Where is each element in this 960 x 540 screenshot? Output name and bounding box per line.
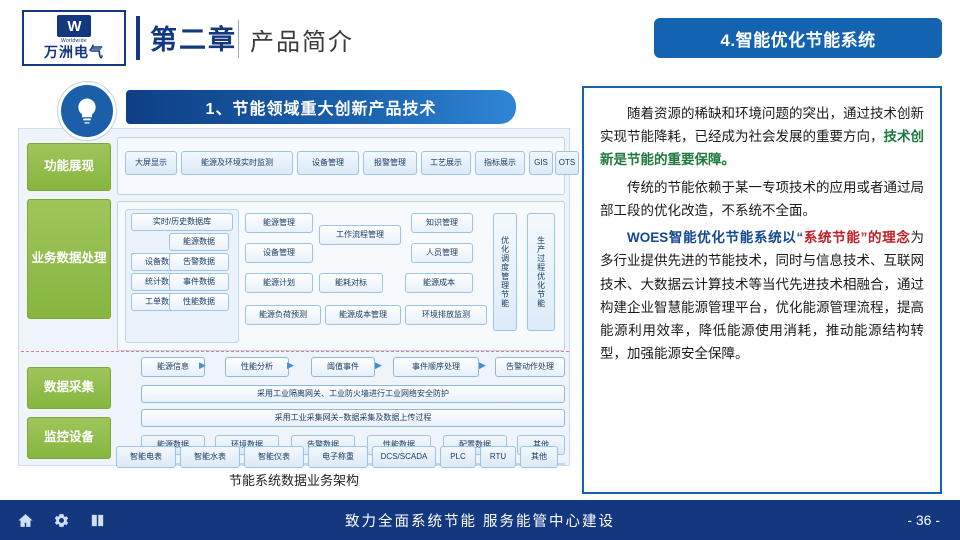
card-energy-management[interactable]: 能源管理 — [245, 213, 313, 233]
card-ots[interactable]: OTS — [555, 151, 579, 175]
bar-industrial-security: 采用工业隔离网关、工业防火墙进行工业网络安全防护 — [141, 385, 565, 403]
paragraph-1: 随着资源的稀缺和环境问题的突出，通过技术创新实现节能降耗，已经成为社会发展的重要… — [600, 102, 924, 172]
card-performance-analysis[interactable]: 性能分析 — [225, 357, 289, 377]
card-process-display[interactable]: 工艺展示 — [421, 151, 471, 175]
card-workflow-management[interactable]: 工作流程管理 — [319, 225, 401, 245]
vcard-process-optimization[interactable]: 生产过程优化节能 — [527, 213, 555, 331]
para3-red: 系统节能”的理念 — [803, 230, 910, 245]
bar-collection-gateway: 采用工业采集网关−数据采集及数据上传过程 — [141, 409, 565, 427]
para3-rest: 为多行业提供先进的节能技术，同时与信息技术、互联网技术、大数据云计算技术等当代先… — [600, 230, 924, 361]
spacer — [131, 253, 133, 255]
vcard-dispatch-optimization[interactable]: 优化调度管理节能 — [493, 213, 517, 331]
section-title-banner: 1、节能领域重大创新产品技术 — [126, 90, 516, 124]
card-smart-water-meter[interactable]: 智能水表 — [180, 446, 240, 468]
card-load-forecast[interactable]: 能源负荷预测 — [245, 305, 321, 325]
row-label-function: 功能展现 — [27, 143, 111, 191]
card-big-screen[interactable]: 大屏显示 — [125, 151, 177, 175]
logo-chinese-name: 万洲电气 — [44, 45, 104, 60]
title-divider — [238, 20, 239, 58]
section-title-label: 1、节能领域重大创新产品技术 — [206, 95, 437, 119]
footer-bar: 致力全面系统节能 服务能管中心建设 - 36 - — [0, 500, 960, 540]
paragraph-2: 传统的节能依赖于某一专项技术的应用或者通过局部工段的优化改造，不系统不全面。 — [600, 176, 924, 222]
card-kpi-display[interactable]: 指标展示 — [475, 151, 525, 175]
card-device-management[interactable]: 设备管理 — [297, 151, 359, 175]
row-label-devices: 监控设备 — [27, 417, 111, 459]
footer-slogan: 致力全面系统节能 服务能管中心建设 — [0, 510, 960, 531]
card-cost-management[interactable]: 能源成本管理 — [325, 305, 401, 325]
para3-blue: WOES智能优化节能系统以“ — [627, 230, 803, 245]
card-gis[interactable]: GIS — [529, 151, 553, 175]
architecture-diagram: 功能展现 业务数据处理 数据采集 监控设备 大屏显示 能源及环境实时监测 设备管… — [18, 128, 570, 466]
card-smart-instrument[interactable]: 智能仪表 — [244, 446, 304, 468]
divider-dashed — [21, 351, 569, 352]
chapter-subtitle: 产品简介 — [250, 22, 354, 57]
card-plc[interactable]: PLC — [440, 446, 476, 468]
card-energy-plan[interactable]: 能源计划 — [245, 273, 313, 293]
chapter-title: 第二章 — [150, 18, 237, 57]
card-smart-meter[interactable]: 智能电表 — [116, 446, 176, 468]
paragraph-3: WOES智能优化节能系统以“系统节能”的理念为多行业提供先进的节能技术，同时与信… — [600, 226, 924, 365]
card-db-energy-1[interactable]: 能源数据 — [169, 233, 229, 251]
section-badge-top-right: 4.智能优化节能系统 — [654, 18, 942, 58]
card-energy-benchmark[interactable]: 能耗对标 — [319, 273, 383, 293]
lightbulb-badge-icon — [58, 82, 116, 140]
para2-run1: 传统的节能依赖于某一专项技术的应用或者通过局部工段的优化改造，不系统不全面。 — [600, 180, 924, 218]
card-device-other[interactable]: 其他 — [520, 446, 558, 468]
card-rtu[interactable]: RTU — [480, 446, 516, 468]
logo-mark: W — [57, 15, 91, 37]
section-badge-label: 4.智能优化节能系统 — [720, 26, 875, 51]
card-db-performance[interactable]: 性能数据 — [169, 293, 229, 311]
card-energy-cost[interactable]: 能源成本 — [405, 273, 473, 293]
card-threshold-event[interactable]: 阈值事件 — [311, 357, 375, 377]
card-equipment-management[interactable]: 设备管理 — [245, 243, 313, 263]
para1-run1: 随着资源的稀缺和环境问题的突出，通过技术创新实现节能降耗，已经成为社会发展的重要… — [600, 106, 924, 144]
description-panel: 随着资源的稀缺和环境问题的突出，通过技术创新实现节能降耗，已经成为社会发展的重要… — [582, 86, 942, 494]
card-emission-monitor[interactable]: 环境排放监测 — [405, 305, 487, 325]
card-event-sequence[interactable]: 事件顺序处理 — [393, 357, 479, 377]
row-label-business: 业务数据处理 — [27, 199, 111, 319]
card-energy-env-monitor[interactable]: 能源及环境实时监测 — [181, 151, 293, 175]
row-label-collection: 数据采集 — [27, 367, 111, 409]
card-energy-info[interactable]: 能源信息 — [141, 357, 205, 377]
page-number: - 36 - — [907, 512, 940, 528]
card-knowledge-management[interactable]: 知识管理 — [411, 213, 473, 233]
card-electronic-scale[interactable]: 电子称重 — [308, 446, 368, 468]
card-alarm-management[interactable]: 报警管理 — [363, 151, 417, 175]
card-dcs-scada[interactable]: DCS/SCADA — [372, 446, 436, 468]
diagram-caption: 节能系统数据业务架构 — [18, 470, 570, 489]
card-alarm-action[interactable]: 告警动作处理 — [495, 357, 565, 377]
card-db-event[interactable]: 事件数据 — [169, 273, 229, 291]
company-logo: W Worldwide 万洲电气 — [22, 10, 126, 66]
card-personnel-management[interactable]: 人员管理 — [411, 243, 473, 263]
left-panel: 1、节能领域重大创新产品技术 功能展现 业务数据处理 数据采集 监控设备 大屏显… — [18, 86, 570, 494]
chapter-accent-bar — [136, 16, 140, 60]
device-strip: 智能电表 智能水表 智能仪表 电子称重 DCS/SCADA PLC RTU 其他 — [116, 446, 556, 468]
card-realtime-history-db: 实时/历史数据库 — [131, 213, 233, 231]
card-db-alarm[interactable]: 告警数据 — [169, 253, 229, 271]
